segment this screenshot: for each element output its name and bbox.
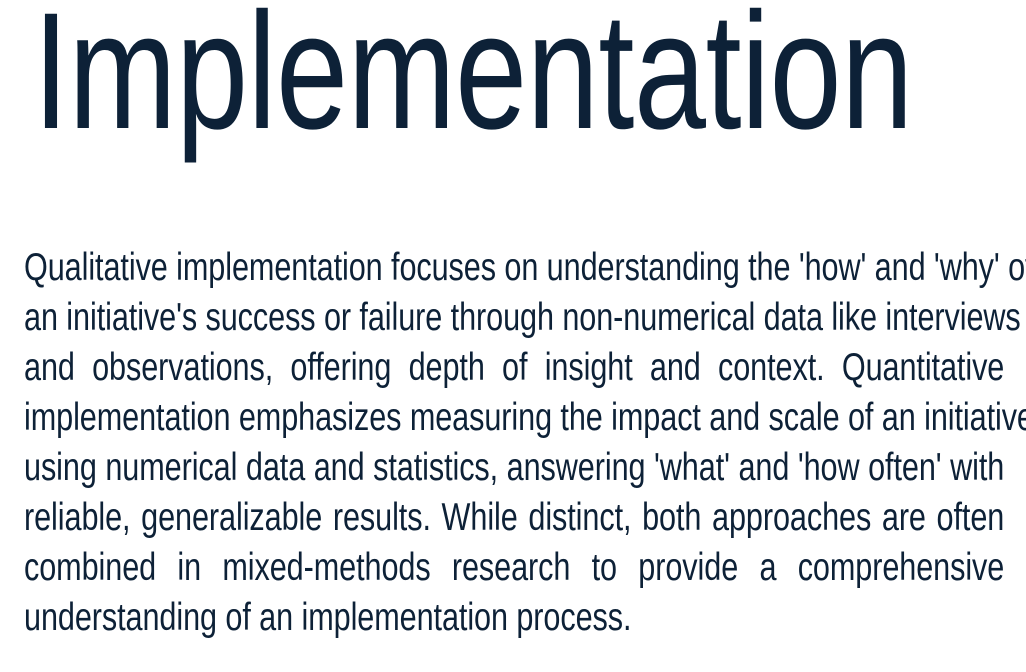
title-region: Implementation (0, 0, 1026, 200)
body-line: reliable, generalizable results. While d… (24, 493, 1004, 543)
slide-canvas: Implementation Qualitative implementatio… (0, 0, 1026, 672)
body-line: and observations, offering depth of insi… (24, 343, 1004, 393)
body-line: Qualitative implementation focuses on un… (24, 243, 1004, 293)
body-region: Qualitative implementation focuses on un… (24, 243, 1004, 643)
body-paragraph: Qualitative implementation focuses on un… (24, 243, 1004, 643)
page-title: Implementation (33, 0, 913, 172)
body-line: combined in mixed-methods research to pr… (24, 543, 1004, 593)
body-line: an initiative's success or failure throu… (24, 293, 1004, 343)
body-line: implementation emphasizes measuring the … (24, 393, 1004, 443)
body-line: understanding of an implementation proce… (24, 593, 1004, 643)
body-line: using numerical data and statistics, ans… (24, 443, 1004, 493)
